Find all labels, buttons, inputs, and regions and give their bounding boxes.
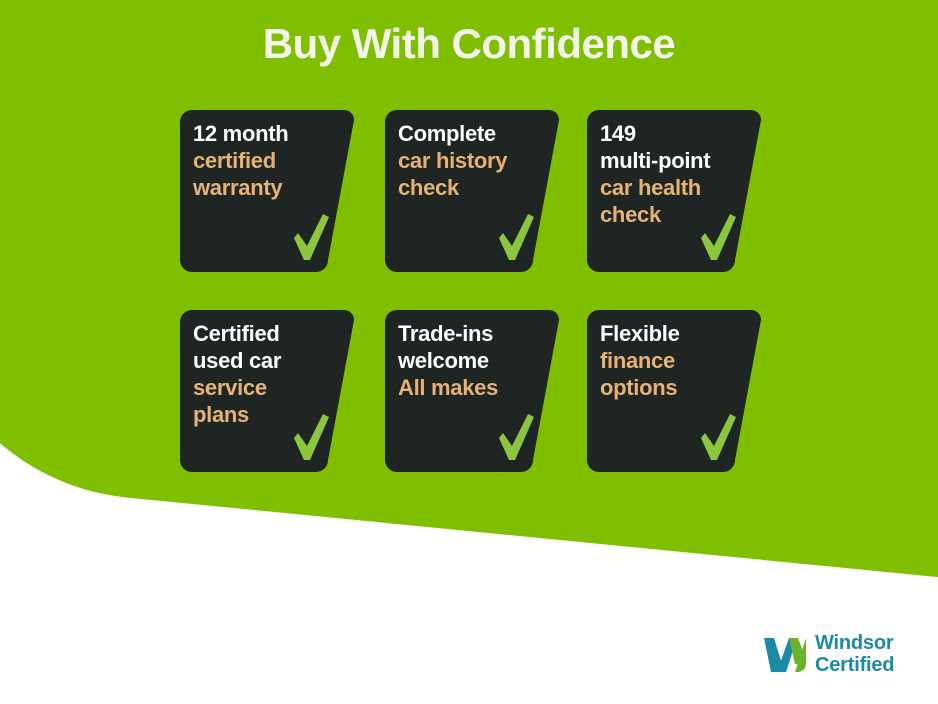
card-line: Trade-ins <box>398 320 548 347</box>
check-icon <box>495 410 537 464</box>
card-line: used car <box>193 347 343 374</box>
check-icon <box>697 210 739 264</box>
check-icon <box>495 210 537 264</box>
feature-card-multi-point-check[interactable]: 149 multi-point car health check <box>585 108 761 274</box>
feature-card-grid: 12 month certified warranty Complete car… <box>178 108 778 480</box>
feature-card-certified-warranty[interactable]: 12 month certified warranty <box>178 108 354 274</box>
feature-card-flexible-finance[interactable]: Flexible finance options <box>585 308 761 474</box>
card-line: car history <box>398 147 548 174</box>
feature-card-row: Certified used car service plans Trade-i… <box>178 304 778 480</box>
card-text-block: Trade-ins welcome All makes <box>398 320 548 401</box>
card-line: 149 <box>600 120 750 147</box>
card-line: All makes <box>398 374 548 401</box>
card-line: warranty <box>193 174 343 201</box>
check-icon <box>290 210 332 264</box>
card-text-block: Flexible finance options <box>600 320 750 401</box>
card-line: service <box>193 374 343 401</box>
feature-card-trade-ins[interactable]: Trade-ins welcome All makes <box>383 308 559 474</box>
logo-wordmark: Windsor Certified <box>815 632 894 676</box>
feature-card-car-history-check[interactable]: Complete car history check <box>383 108 559 274</box>
card-line: Complete <box>398 120 548 147</box>
banner-canvas: Buy With Confidence 12 month certified w… <box>0 0 938 704</box>
check-icon <box>290 410 332 464</box>
card-line: Certified <box>193 320 343 347</box>
card-text-block: Complete car history check <box>398 120 548 201</box>
feature-card-row: 12 month certified warranty Complete car… <box>178 108 778 304</box>
card-line: multi-point <box>600 147 750 174</box>
card-line: certified <box>193 147 343 174</box>
check-icon <box>697 410 739 464</box>
card-line: car health <box>600 174 750 201</box>
windsor-w-icon <box>762 634 808 674</box>
card-line: options <box>600 374 750 401</box>
feature-card-service-plans[interactable]: Certified used car service plans <box>178 308 354 474</box>
card-line: 12 month <box>193 120 343 147</box>
card-line: finance <box>600 347 750 374</box>
logo-line-certified: Certified <box>815 654 894 676</box>
windsor-certified-logo[interactable]: Windsor Certified <box>762 626 922 682</box>
logo-line-windsor: Windsor <box>815 632 894 654</box>
page-title: Buy With Confidence <box>0 18 938 70</box>
card-line: check <box>398 174 548 201</box>
card-line: Flexible <box>600 320 750 347</box>
card-line: welcome <box>398 347 548 374</box>
card-text-block: 12 month certified warranty <box>193 120 343 201</box>
